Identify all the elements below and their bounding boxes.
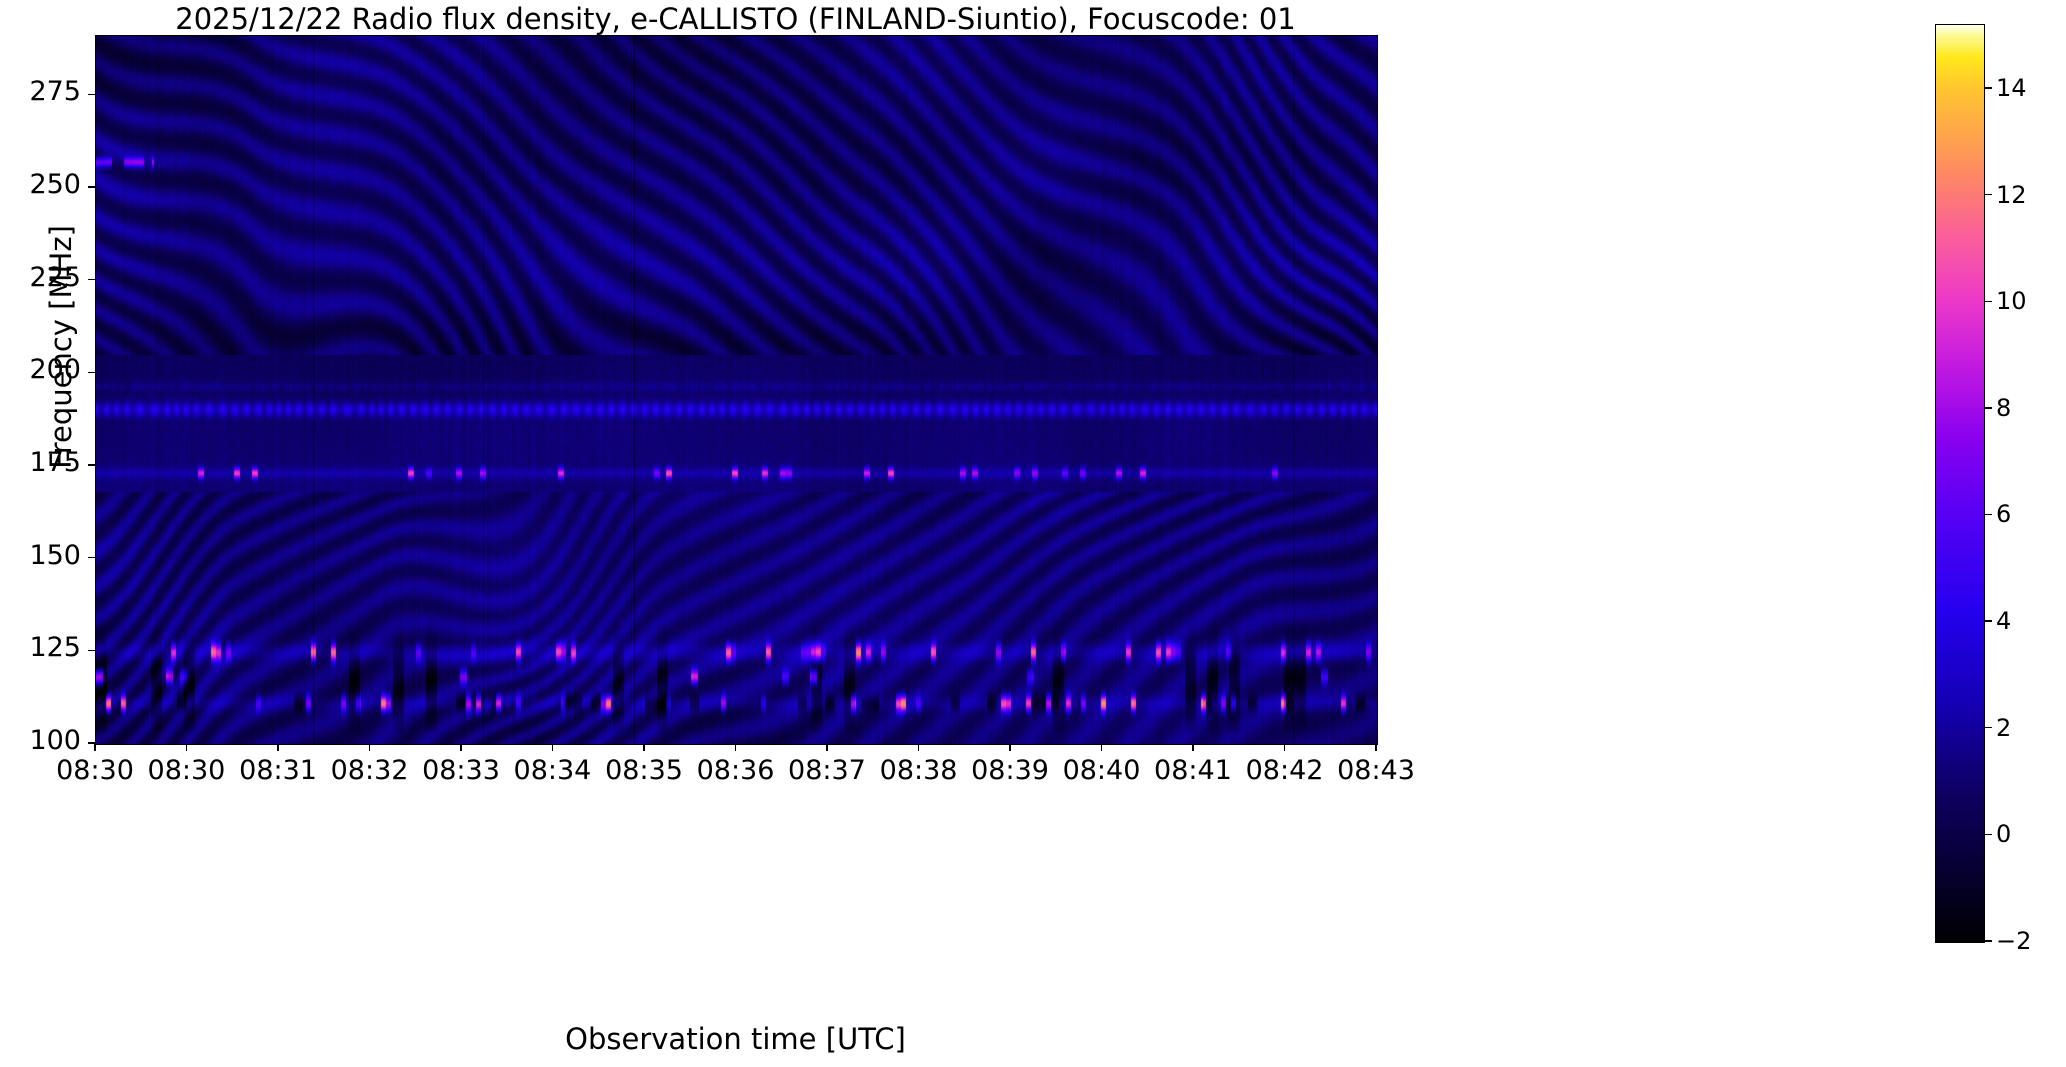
y-tick-label: 150 <box>0 540 81 571</box>
colorbar-tick-label: 0 <box>1996 820 2011 848</box>
y-tick-label: 125 <box>0 632 81 663</box>
colorbar-tick-mark <box>1985 407 1992 408</box>
y-tick-label: 175 <box>0 447 81 478</box>
y-tick-label: 100 <box>0 725 81 756</box>
colorbar-tick-mark <box>1985 194 1992 195</box>
x-tick-mark <box>1009 744 1010 751</box>
x-tick-mark <box>186 744 187 751</box>
y-tick-mark <box>88 279 95 280</box>
x-tick-label: 08:36 <box>697 755 775 786</box>
colorbar-tick-mark <box>1985 620 1992 621</box>
y-tick-mark <box>88 650 95 651</box>
page-title: 2025/12/22 Radio flux density, e-CALLIST… <box>95 2 1376 36</box>
y-tick-mark <box>88 372 95 373</box>
x-tick-label: 08:39 <box>971 755 1049 786</box>
colorbar-axes <box>1935 24 1985 943</box>
y-tick-mark <box>88 186 95 187</box>
y-tick-label: 250 <box>0 169 81 200</box>
x-tick-label: 08:43 <box>1337 755 1415 786</box>
colorbar-tick-mark <box>1985 727 1992 728</box>
spectrogram-axes <box>95 35 1378 745</box>
y-tick-label: 200 <box>0 354 81 385</box>
y-tick-label: 275 <box>0 76 81 107</box>
x-tick-label: 08:30 <box>56 755 134 786</box>
colorbar-tick-label: −2 <box>1996 927 2031 955</box>
x-tick-label: 08:31 <box>239 755 317 786</box>
x-tick-label: 08:37 <box>788 755 866 786</box>
x-tick-mark <box>735 744 736 751</box>
y-tick-label: 225 <box>0 262 81 293</box>
y-tick-mark <box>88 557 95 558</box>
y-tick-mark <box>88 464 95 465</box>
colorbar-tick-label: 2 <box>1996 714 2011 742</box>
x-tick-label: 08:34 <box>514 755 592 786</box>
x-tick-mark <box>369 744 370 751</box>
y-tick-mark <box>88 94 95 95</box>
x-tick-label: 08:33 <box>422 755 500 786</box>
colorbar-tick-mark <box>1985 834 1992 835</box>
x-axis-label: Observation time [UTC] <box>95 1022 1376 1056</box>
x-tick-label: 08:35 <box>605 755 683 786</box>
x-tick-mark <box>1101 744 1102 751</box>
colorbar-tick-label: 6 <box>1996 500 2011 528</box>
spectrogram-figure: 2025/12/22 Radio flux density, e-CALLIST… <box>0 0 2066 1067</box>
x-tick-label: 08:40 <box>1063 755 1141 786</box>
colorbar-tick-label: 14 <box>1996 74 2027 102</box>
x-tick-label: 08:41 <box>1154 755 1232 786</box>
x-tick-mark <box>918 744 919 751</box>
x-tick-mark <box>1192 744 1193 751</box>
x-tick-label: 08:38 <box>880 755 958 786</box>
colorbar-tick-label: 4 <box>1996 607 2011 635</box>
colorbar-tick-mark <box>1985 514 1992 515</box>
colorbar-gradient <box>1936 25 1984 942</box>
colorbar-tick-label: 8 <box>1996 394 2011 422</box>
spectrogram-image <box>96 36 1377 744</box>
colorbar-tick-label: 10 <box>1996 287 2027 315</box>
x-tick-label: 08:42 <box>1246 755 1324 786</box>
x-tick-mark <box>460 744 461 751</box>
x-tick-mark <box>277 744 278 751</box>
x-tick-label: 08:32 <box>331 755 409 786</box>
x-tick-mark <box>552 744 553 751</box>
x-tick-mark <box>643 744 644 751</box>
colorbar-tick-mark <box>1985 301 1992 302</box>
x-tick-mark <box>1284 744 1285 751</box>
colorbar-tick-mark <box>1985 940 1992 941</box>
colorbar-tick-label: 12 <box>1996 181 2027 209</box>
x-tick-mark <box>94 744 95 751</box>
colorbar-tick-mark <box>1985 87 1992 88</box>
x-tick-mark <box>1375 744 1376 751</box>
x-tick-mark <box>826 744 827 751</box>
x-tick-label: 08:30 <box>148 755 226 786</box>
